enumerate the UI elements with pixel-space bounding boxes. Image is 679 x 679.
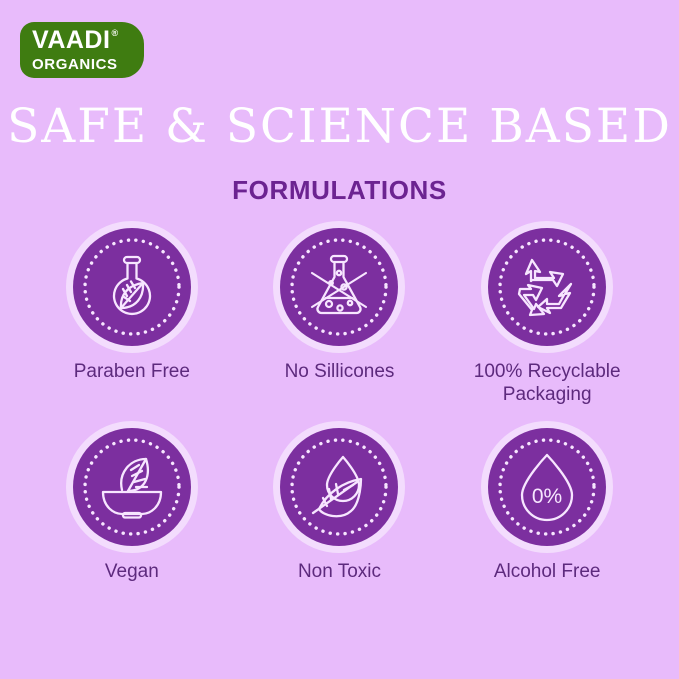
- badge-label: Paraben Free: [74, 360, 190, 383]
- bowl-leaf-icon: [96, 451, 168, 523]
- droplet-leaf-icon: [303, 451, 375, 523]
- badge-circle: [280, 428, 398, 546]
- badge-grid: Paraben Free: [28, 228, 651, 584]
- crossed-flask-icon: [303, 251, 375, 323]
- grid-row-spacer: [443, 406, 651, 428]
- badge-circle: [73, 428, 191, 546]
- grid-row-spacer: [236, 406, 444, 428]
- badge-circle: [488, 228, 606, 346]
- flask-leaf-icon: [96, 251, 168, 323]
- badge-label: Vegan: [105, 560, 159, 583]
- badge-label: Alcohol Free: [494, 560, 601, 583]
- promo-graphic: VAADI ® ORGANICS SAFE & SCIENCE BASED FO…: [0, 0, 679, 679]
- badge-label: 100% Recyclable Packaging: [455, 360, 640, 406]
- brand-logo-primary-line: VAADI ®: [32, 28, 118, 53]
- badge-item-alcohol-free: 0% Alcohol Free: [443, 428, 651, 583]
- badge-label: No Sillicones: [285, 360, 395, 383]
- badge-circle: [280, 228, 398, 346]
- recycle-icon: [511, 251, 583, 323]
- badge-circle: [73, 228, 191, 346]
- badge-label: Non Toxic: [298, 560, 381, 583]
- badge-item-no-sillicones: No Sillicones: [236, 228, 444, 406]
- badge-item-non-toxic: Non Toxic: [236, 428, 444, 583]
- badge-item-vegan: Vegan: [28, 428, 236, 583]
- page-subtitle: FORMULATIONS: [0, 177, 679, 203]
- badge-item-paraben-free: Paraben Free: [28, 228, 236, 406]
- badge-circle: 0%: [488, 428, 606, 546]
- page-title: SAFE & SCIENCE BASED: [0, 103, 679, 150]
- registered-trademark-icon: ®: [111, 29, 118, 38]
- zero-percent-label: 0%: [532, 485, 562, 508]
- brand-subtitle: ORGANICS: [32, 57, 118, 72]
- droplet-zero-percent-icon: 0%: [511, 451, 583, 523]
- brand-name: VAADI: [32, 28, 110, 53]
- badge-item-recyclable: 100% Recyclable Packaging: [443, 228, 651, 406]
- grid-row-spacer: [28, 406, 236, 428]
- brand-logo: VAADI ® ORGANICS: [20, 22, 144, 78]
